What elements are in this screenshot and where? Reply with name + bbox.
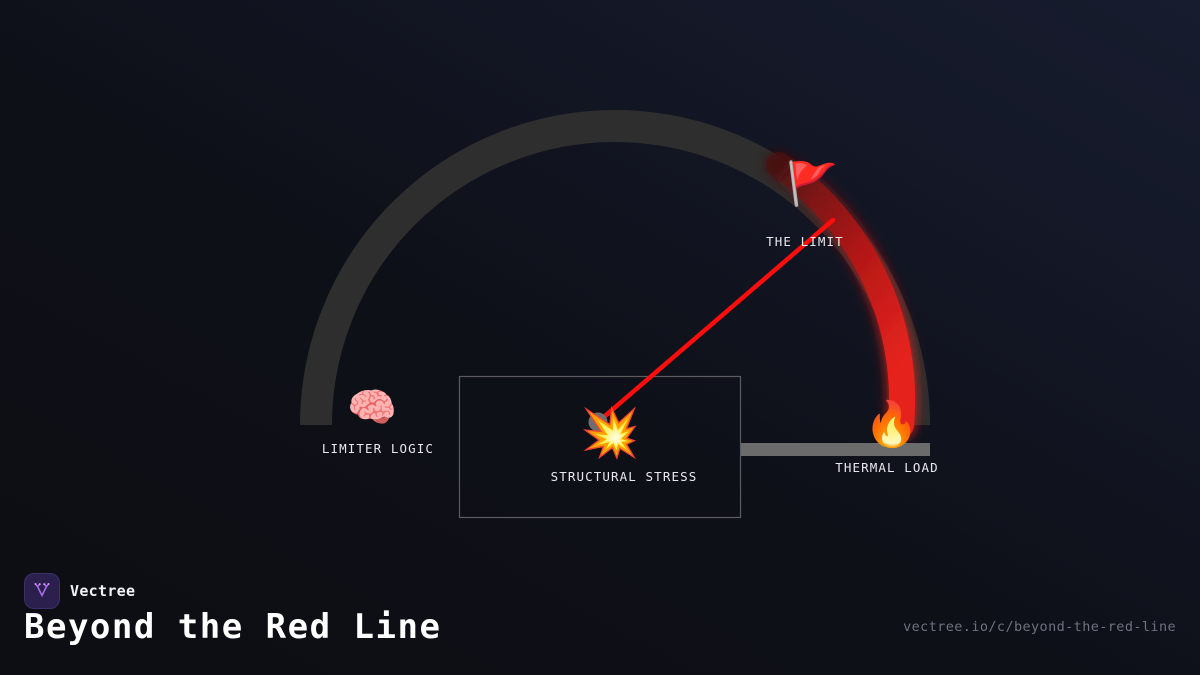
fire-icon: 🔥 — [864, 403, 912, 447]
vectree-logo-icon — [24, 573, 60, 609]
brand-name: Vectree — [70, 582, 135, 600]
collision-icon: 💥 — [580, 409, 632, 457]
thermal-load-label: THERMAL LOAD — [835, 460, 939, 475]
page-title: Beyond the Red Line — [24, 607, 441, 647]
infographic-canvas: 🧠 LIMITER LOGIC 💥 STRUCTURAL STRESS 🔥 TH… — [0, 0, 1200, 675]
limiter-logic-label: LIMITER LOGIC — [322, 441, 434, 456]
structural-stress-label: STRUCTURAL STRESS — [551, 469, 698, 484]
triangular-flag-icon: 🚩 — [786, 163, 834, 205]
source-url: vectree.io/c/beyond-the-red-line — [903, 619, 1176, 635]
brain-icon: 🧠 — [347, 388, 393, 428]
the-limit-label: THE LIMIT — [766, 234, 844, 249]
brand-row[interactable]: Vectree — [24, 573, 135, 609]
gauge-figure: 🧠 LIMITER LOGIC 💥 STRUCTURAL STRESS 🔥 TH… — [0, 0, 1200, 540]
gauge-needle — [598, 220, 833, 422]
footer: Vectree Beyond the Red Line vectree.io/c… — [0, 555, 1200, 675]
